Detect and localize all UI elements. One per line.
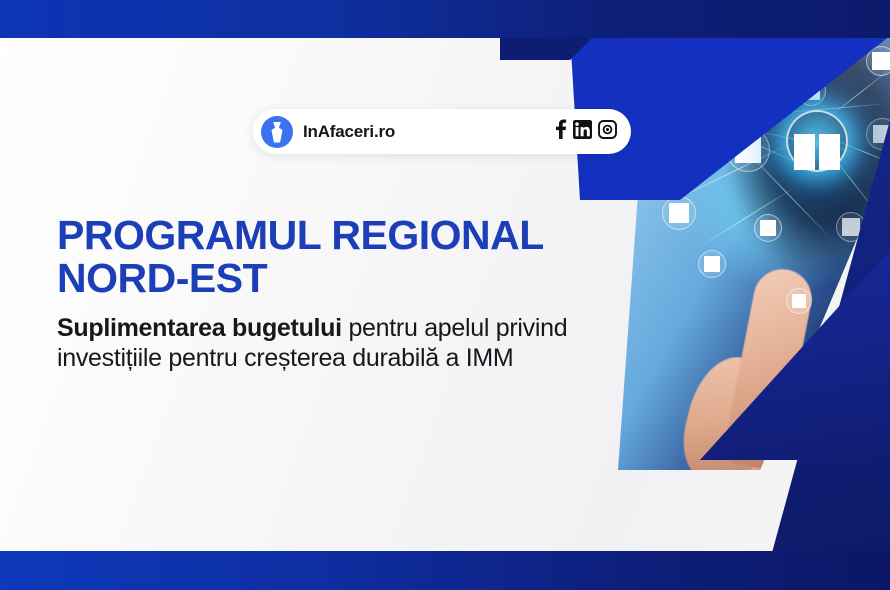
person-icon [819, 134, 840, 170]
people-pair-icon [794, 134, 839, 170]
page-title-line-2: NORD-EST [57, 257, 617, 300]
top-bar [0, 0, 890, 38]
brand-pill[interactable]: InAfaceri.ro [253, 109, 631, 154]
brand-name: InAfaceri.ro [303, 122, 395, 142]
page-subtitle: Suplimentarea bugetului pentru apelul pr… [57, 313, 657, 373]
person-icon [872, 52, 889, 69]
person-icon [794, 134, 815, 170]
page-title: PROGRAMUL REGIONAL NORD-EST [57, 214, 617, 300]
bottom-bar [0, 551, 890, 590]
person-icon [760, 220, 776, 236]
network-node [754, 214, 782, 242]
network-link [700, 188, 794, 247]
page-title-line-1: PROGRAMUL REGIONAL [57, 214, 617, 257]
linkedin-icon[interactable] [573, 120, 592, 144]
person-icon [704, 256, 720, 272]
person-icon [792, 294, 807, 309]
necktie-blade [272, 127, 283, 143]
person-icon [842, 218, 859, 235]
banner: InAfaceri.ro [0, 0, 890, 590]
network-node [662, 196, 696, 230]
instagram-icon[interactable] [598, 120, 617, 144]
network-node [786, 288, 812, 314]
facebook-icon[interactable] [554, 119, 567, 144]
necktie-shape [271, 122, 283, 143]
social-links [554, 119, 617, 144]
network-hub-node [786, 110, 848, 172]
necktie-icon [261, 116, 293, 148]
page-subtitle-bold: Suplimentarea bugetului [57, 314, 342, 342]
network-node [698, 250, 726, 278]
person-icon [669, 203, 689, 223]
